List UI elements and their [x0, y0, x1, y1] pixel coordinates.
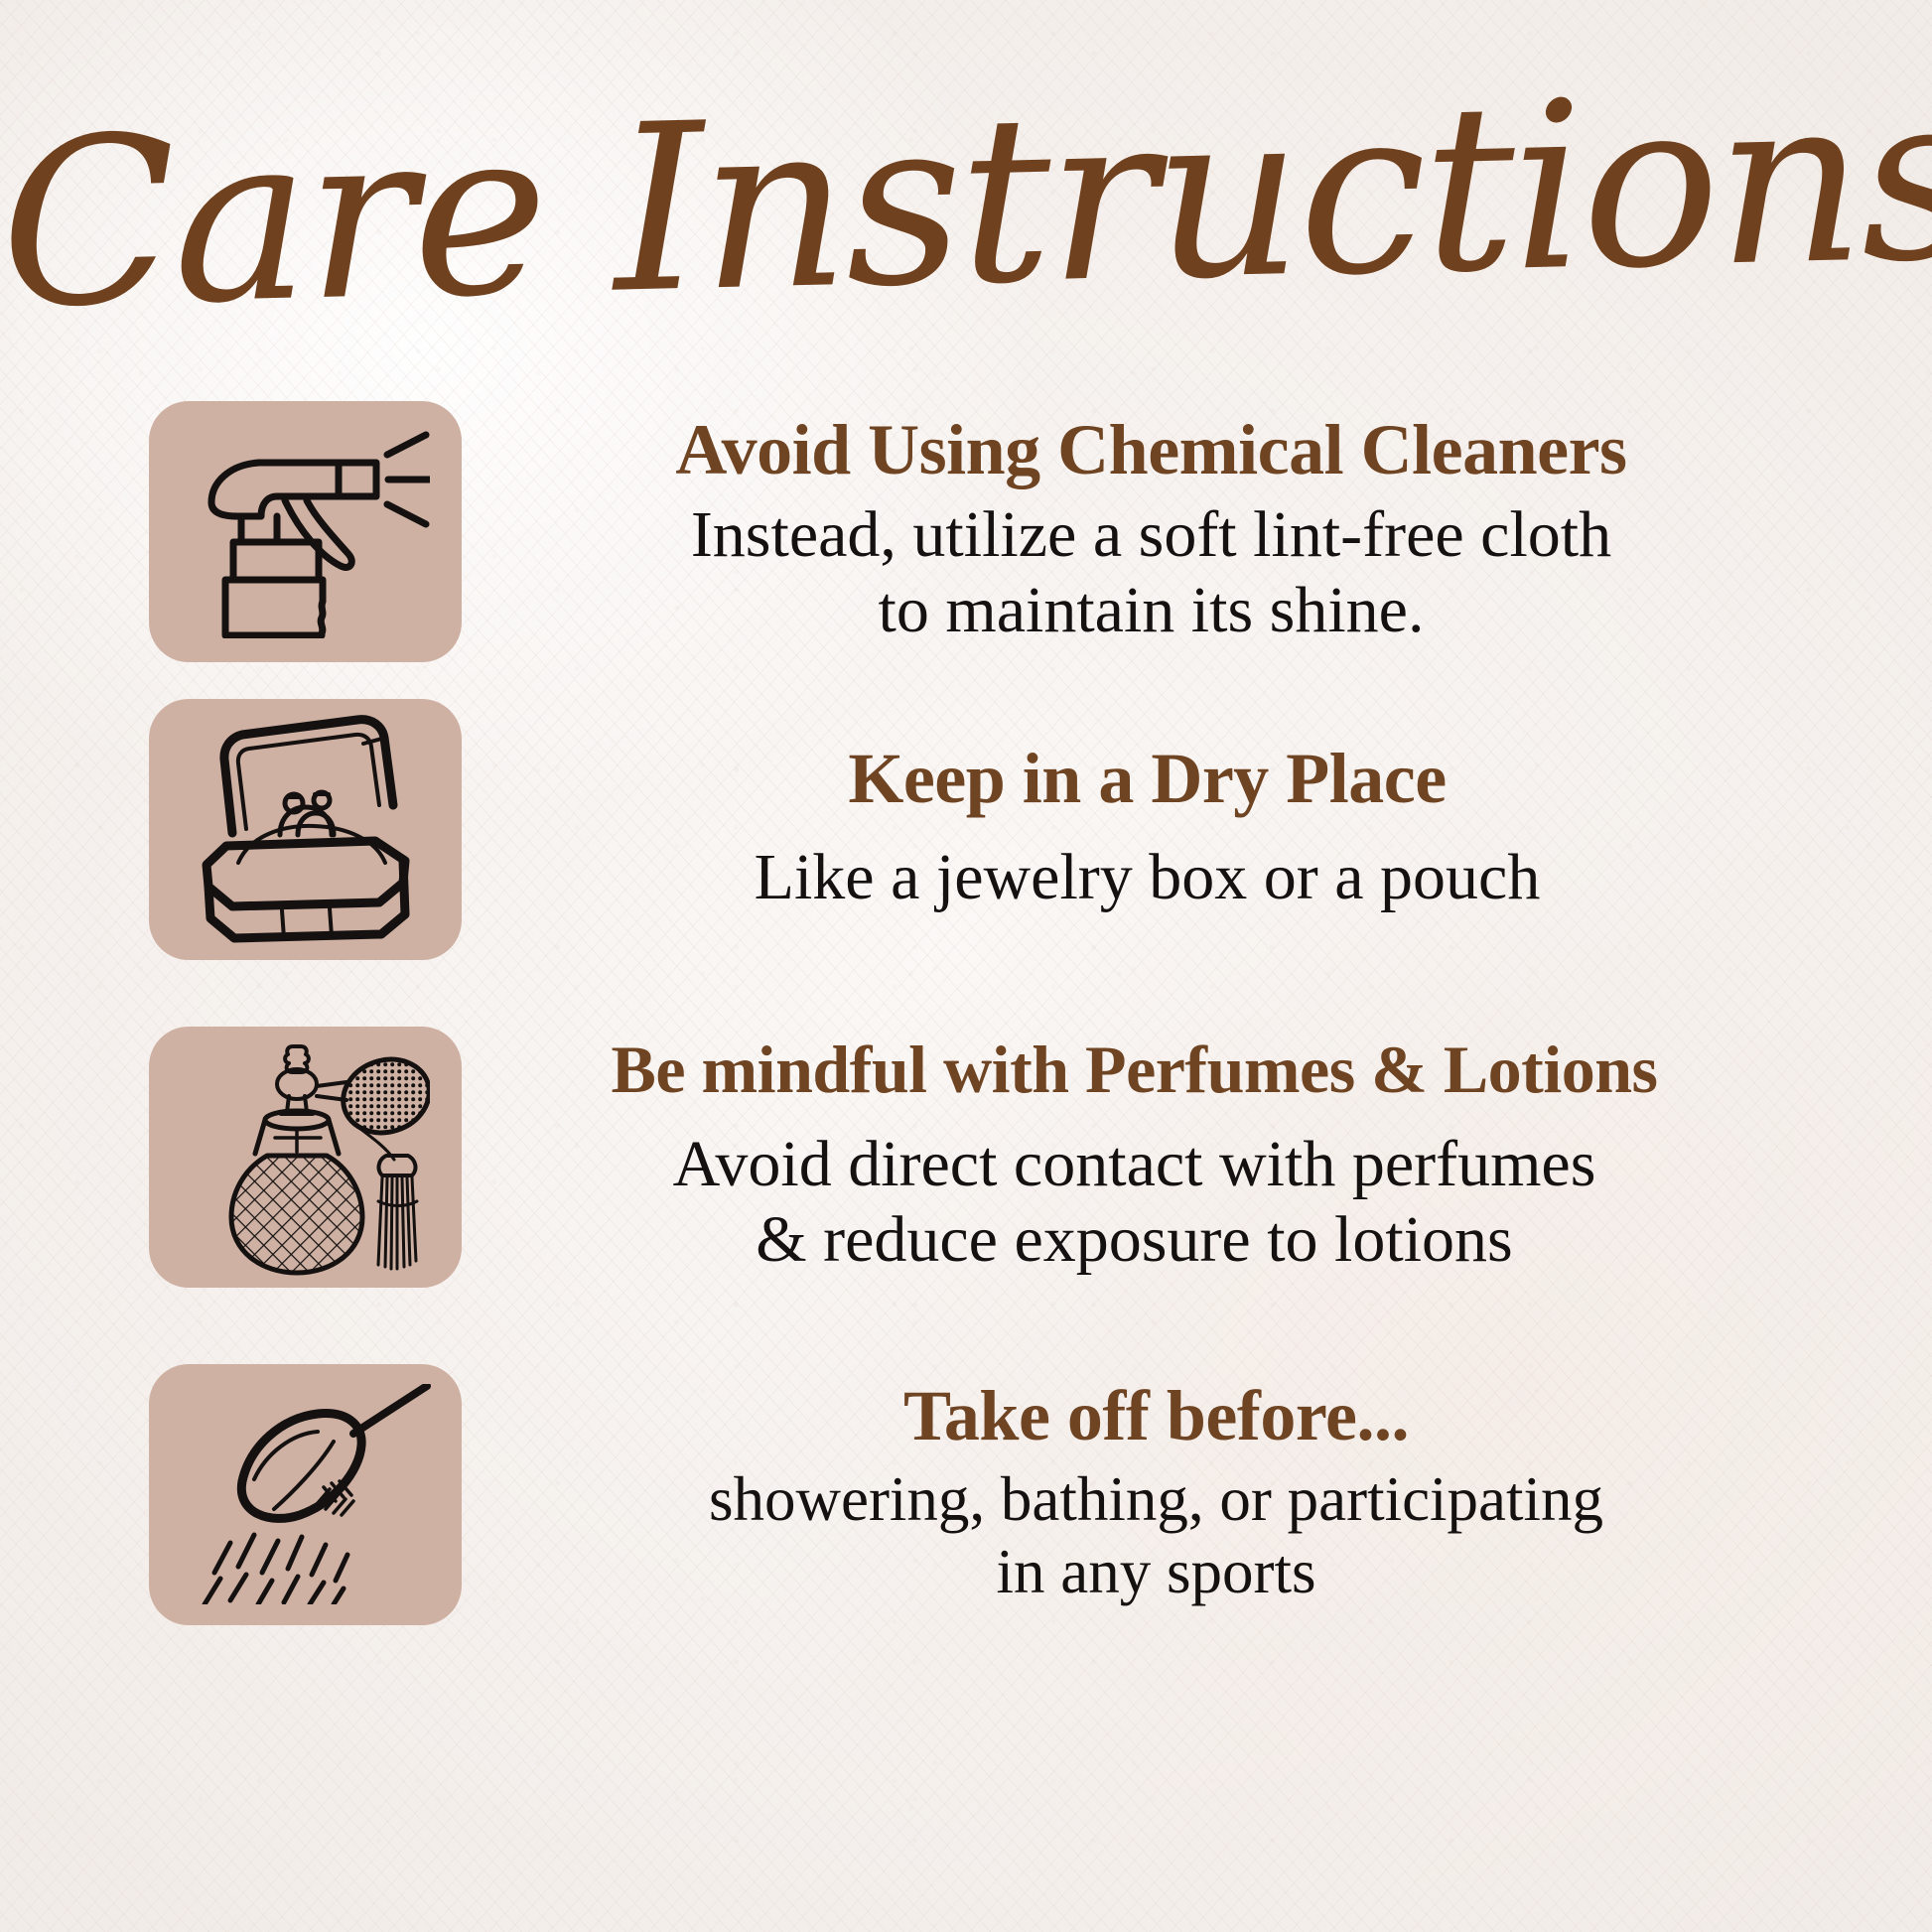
instruction-heading: Keep in a Dry Place: [497, 742, 1797, 816]
instruction-body: showering, bathing, or participating in …: [515, 1463, 1797, 1608]
shower-head-icon: [179, 1384, 433, 1604]
instruction-text-block: Avoid Using Chemical Cleaners Instead, u…: [462, 413, 1797, 649]
instruction-text-block: Take off before... showering, bathing, o…: [462, 1379, 1797, 1608]
instruction-text-block: Keep in a Dry Place Like a jewelry box o…: [462, 742, 1797, 915]
icon-tile-perfumes-lotions: [149, 1027, 462, 1288]
perfume-atomizer-icon: [182, 1035, 430, 1279]
instruction-body: Avoid direct contact with perfumes & red…: [472, 1127, 1797, 1279]
icon-tile-dry-place: [149, 699, 462, 960]
instruction-row: Avoid Using Chemical Cleaners Instead, u…: [149, 397, 1797, 665]
page-title: Care Instructions: [0, 34, 1932, 368]
icon-tile-take-off-before: [149, 1364, 462, 1625]
instruction-heading: Take off before...: [515, 1379, 1797, 1453]
instruction-heading: Avoid Using Chemical Cleaners: [505, 413, 1797, 487]
instruction-body: Instead, utilize a soft lint-free cloth …: [505, 497, 1797, 649]
instruction-row: Keep in a Dry Place Like a jewelry box o…: [149, 695, 1797, 963]
instruction-body: Like a jewelry box or a pouch: [497, 840, 1797, 916]
care-instructions-poster: Care Instructions: [0, 0, 1932, 1932]
instruction-row: Take off before... showering, bathing, o…: [149, 1360, 1797, 1628]
instruction-heading: Be mindful with Perfumes & Lotions: [472, 1035, 1797, 1105]
instruction-text-block: Be mindful with Perfumes & Lotions Avoid…: [462, 1035, 1797, 1279]
jewelry-box-icon: [181, 714, 431, 944]
instruction-row: Be mindful with Perfumes & Lotions Avoid…: [149, 1023, 1797, 1291]
icon-tile-chemical-cleaners: [149, 401, 462, 662]
spray-bottle-icon: [182, 425, 430, 638]
